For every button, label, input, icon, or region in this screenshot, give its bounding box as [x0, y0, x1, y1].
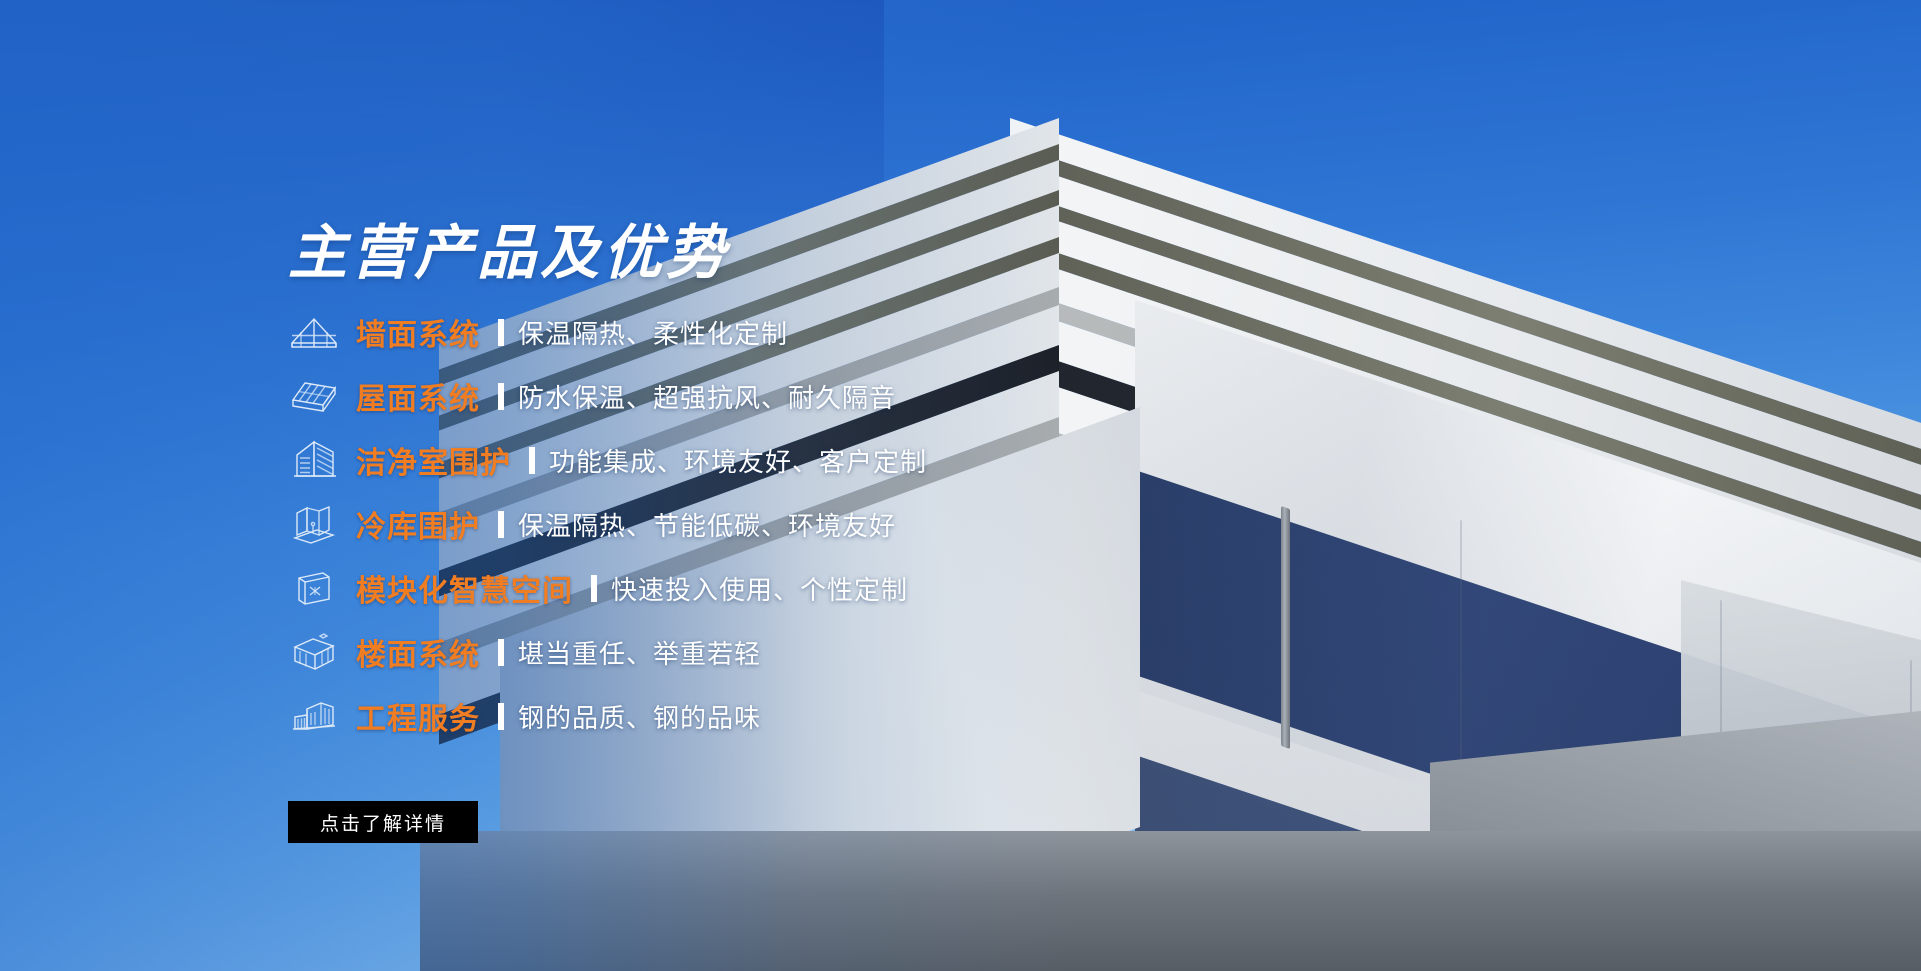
engineering-service-icon — [288, 693, 340, 739]
feature-description: 钢的品质、钢的品味 — [518, 698, 761, 735]
wall-system-icon — [288, 309, 340, 355]
hero-content-overlay: 主营产品及优势 墙面系统 保温隔热、柔性化定制 — [0, 0, 1921, 971]
feature-row[interactable]: 冷库围护 保温隔热、节能低碳、环境友好 — [288, 492, 1388, 556]
page-title: 主营产品及优势 — [288, 205, 729, 290]
feature-title: 墙面系统 — [356, 310, 480, 354]
feature-separator — [498, 511, 504, 538]
feature-row[interactable]: 墙面系统 保温隔热、柔性化定制 — [288, 300, 1388, 364]
feature-separator — [498, 639, 504, 666]
feature-description: 快速投入使用、个性定制 — [611, 570, 908, 607]
cold-storage-icon — [288, 501, 340, 547]
modular-space-icon — [288, 565, 340, 611]
feature-title: 屋面系统 — [356, 374, 480, 418]
roof-system-icon — [288, 373, 340, 419]
feature-title: 洁净室围护 — [356, 438, 511, 482]
feature-separator — [498, 383, 504, 410]
feature-row[interactable]: 楼面系统 堪当重任、举重若轻 — [288, 620, 1388, 684]
feature-separator — [529, 447, 535, 474]
feature-separator — [591, 575, 597, 602]
feature-row[interactable]: 工程服务 钢的品质、钢的品味 — [288, 684, 1388, 748]
feature-description: 保温隔热、柔性化定制 — [518, 314, 788, 351]
feature-description: 功能集成、环境友好、客户定制 — [549, 442, 927, 479]
feature-description: 防水保温、超强抗风、耐久隔音 — [518, 378, 896, 415]
feature-separator — [498, 703, 504, 730]
learn-more-button[interactable]: 点击了解详情 — [288, 801, 478, 843]
feature-description: 保温隔热、节能低碳、环境友好 — [518, 506, 896, 543]
feature-title: 模块化智慧空间 — [356, 566, 573, 610]
feature-separator — [498, 319, 504, 346]
feature-title: 工程服务 — [356, 694, 480, 738]
feature-row[interactable]: 洁净室围护 功能集成、环境友好、客户定制 — [288, 428, 1388, 492]
feature-description: 堪当重任、举重若轻 — [518, 634, 761, 671]
feature-list: 墙面系统 保温隔热、柔性化定制 屋面系统 防水保温、超强抗风、耐久隔音 — [288, 300, 1388, 748]
feature-title: 楼面系统 — [356, 630, 480, 674]
floor-system-icon — [288, 629, 340, 675]
cleanroom-envelope-icon — [288, 437, 340, 483]
feature-title: 冷库围护 — [356, 502, 480, 546]
feature-row[interactable]: 模块化智慧空间 快速投入使用、个性定制 — [288, 556, 1388, 620]
feature-row[interactable]: 屋面系统 防水保温、超强抗风、耐久隔音 — [288, 364, 1388, 428]
